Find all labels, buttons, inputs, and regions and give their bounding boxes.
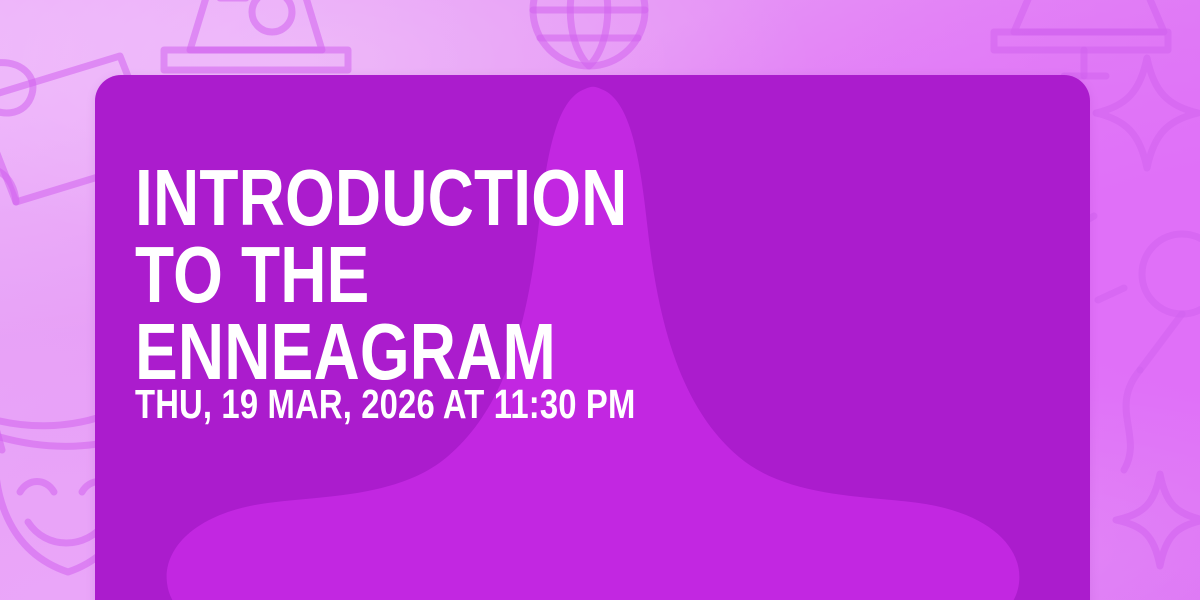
event-title: Introduction to the Enneagram: [135, 159, 647, 391]
event-date: Thu, 19 Mar, 2026 at 11:30 PM: [135, 384, 635, 425]
event-card[interactable]: Introduction to the Enneagram Thu, 19 Ma…: [95, 75, 1090, 600]
star-icon: [1112, 470, 1200, 570]
sparkle-icon: [1092, 54, 1200, 172]
card-content: Introduction to the Enneagram Thu, 19 Ma…: [135, 75, 1050, 600]
event-banner: Introduction to the Enneagram Thu, 19 Ma…: [0, 0, 1200, 600]
